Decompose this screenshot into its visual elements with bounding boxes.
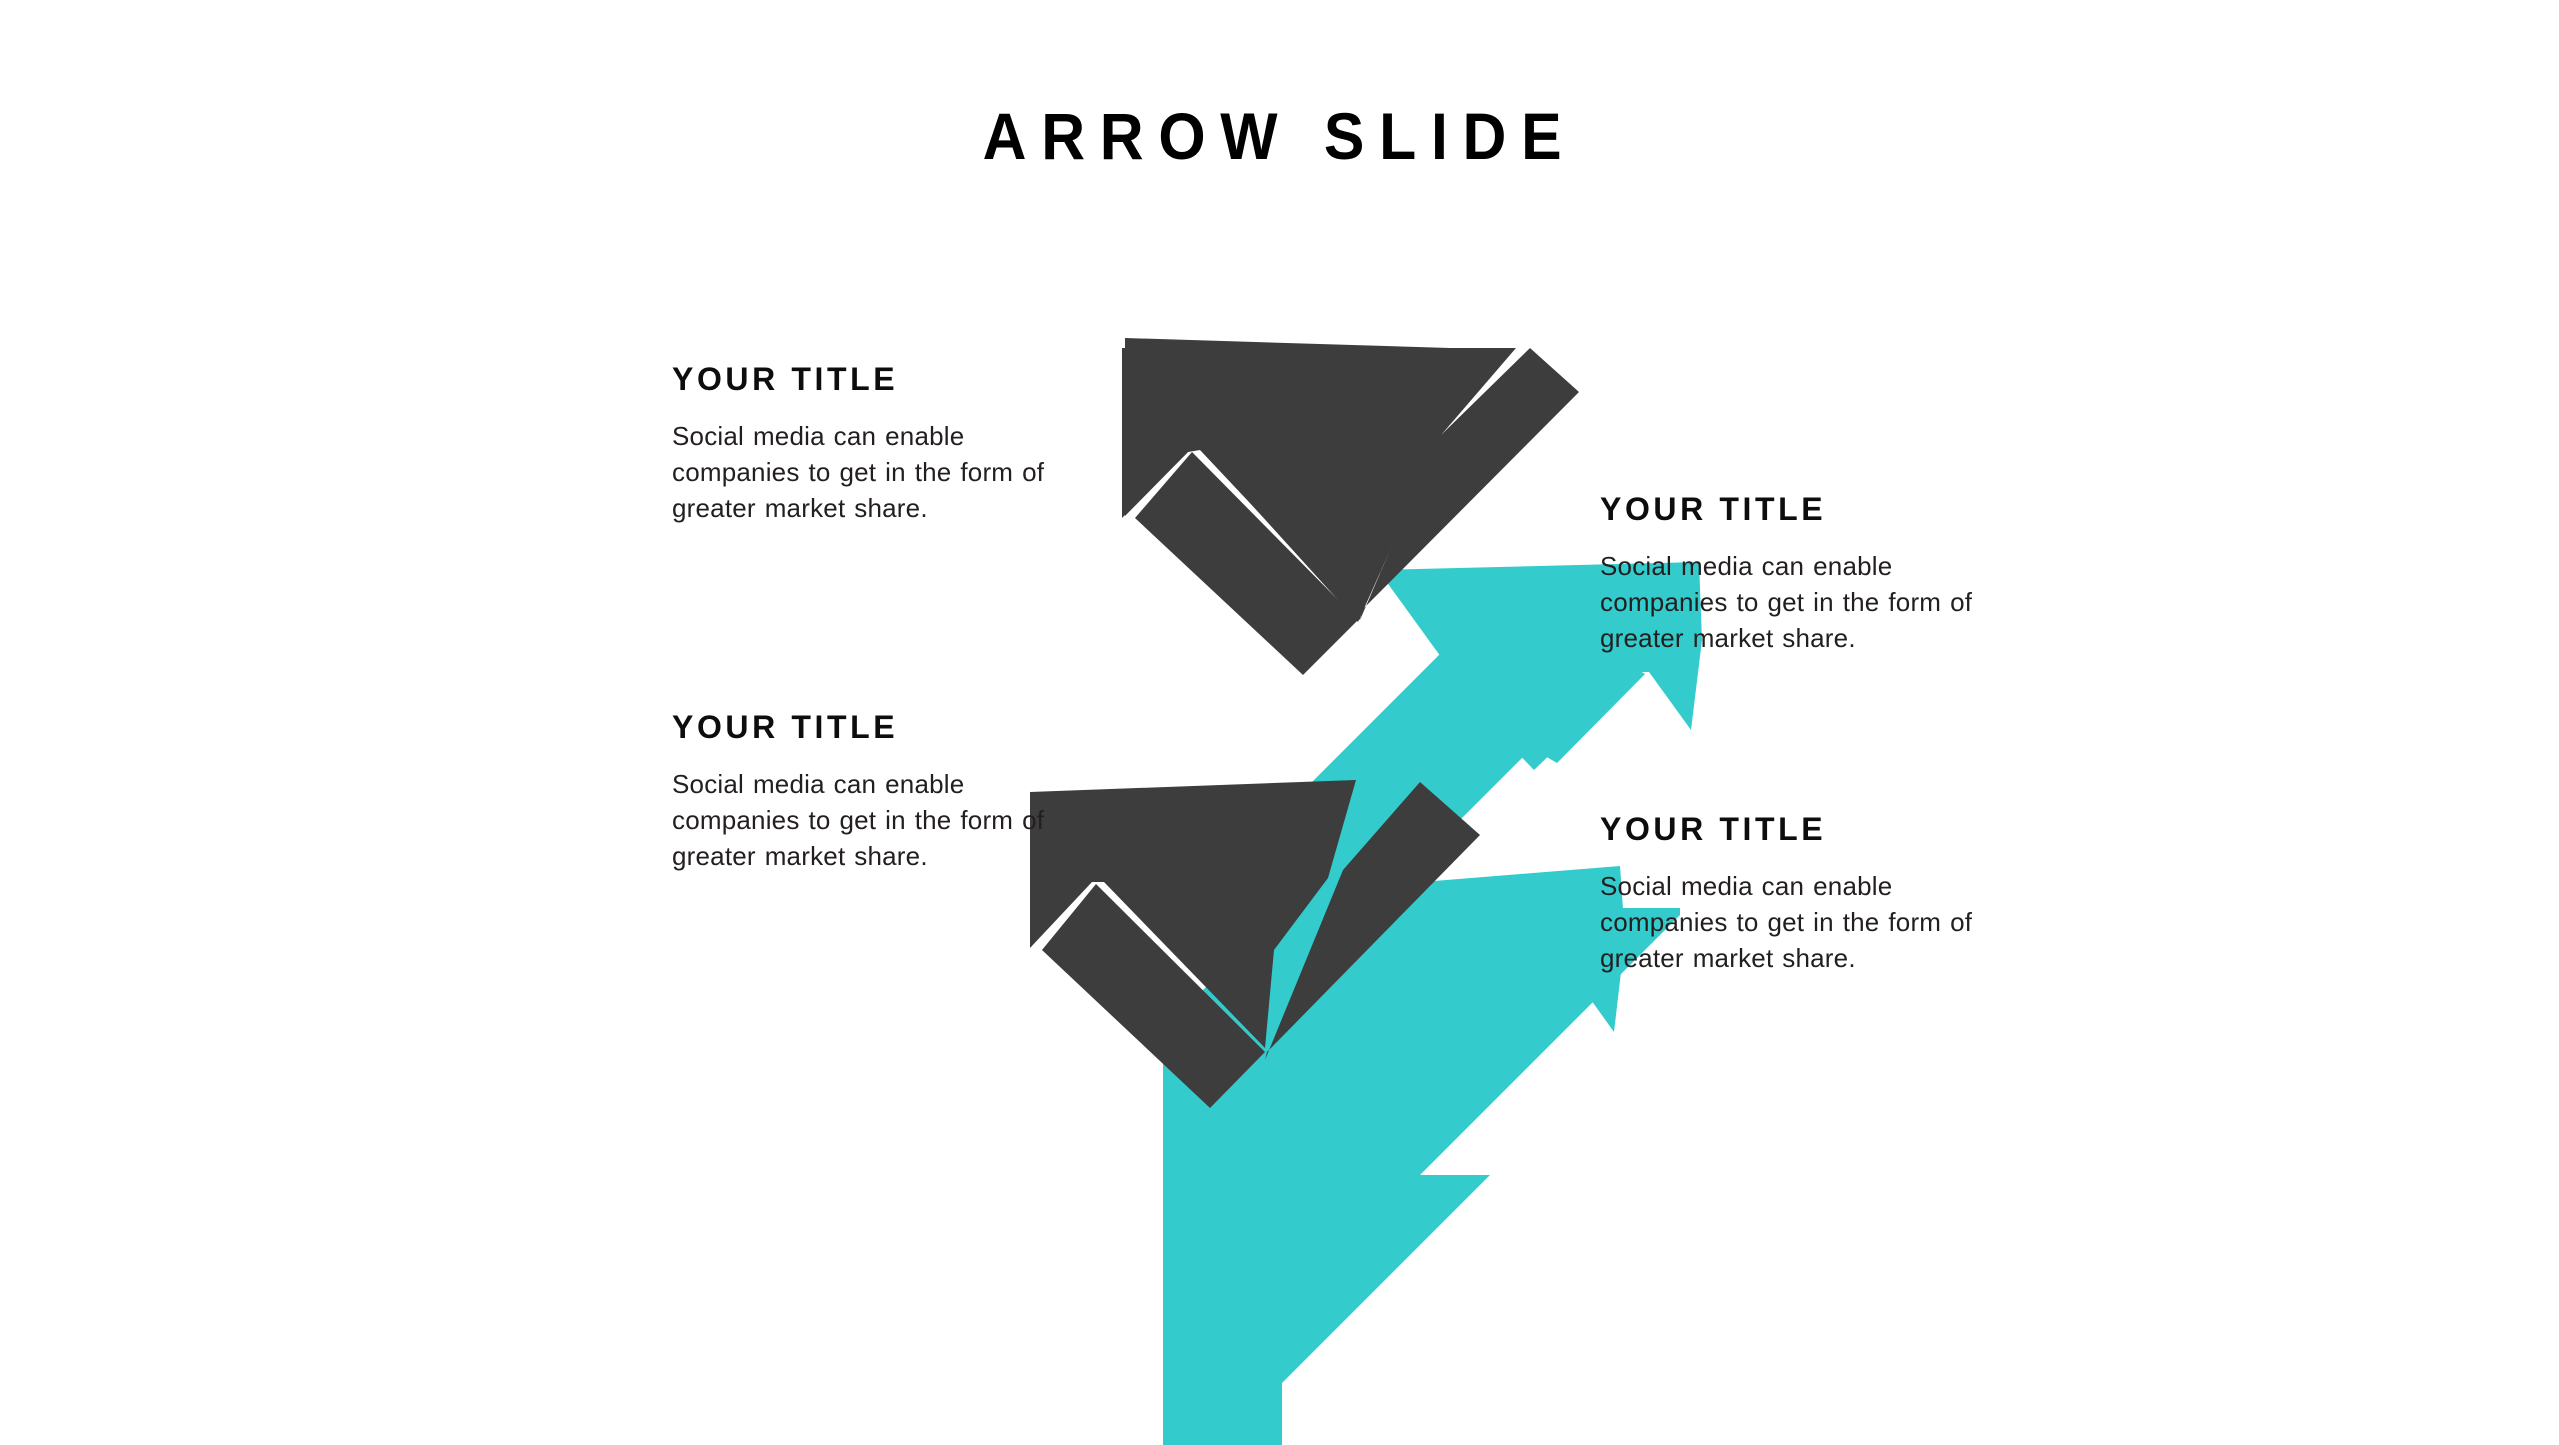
block-title: YOUR TITLE: [1600, 492, 1980, 527]
block-title: YOUR TITLE: [672, 710, 1052, 745]
content-block-top-left: YOUR TITLE Social media can enable compa…: [672, 362, 1052, 527]
block-body: Social media can enable companies to get…: [1600, 549, 1980, 657]
content-block-bottom-left: YOUR TITLE Social media can enable compa…: [672, 710, 1052, 875]
block-body: Social media can enable companies to get…: [672, 419, 1052, 527]
block-title: YOUR TITLE: [1600, 812, 1980, 847]
content-block-top-right: YOUR TITLE Social media can enable compa…: [1600, 492, 1980, 657]
page-title: ARROW SLIDE: [102, 102, 2456, 171]
block-body: Social media can enable companies to get…: [1600, 869, 1980, 977]
block-body: Social media can enable companies to get…: [672, 767, 1052, 875]
content-block-bottom-right: YOUR TITLE Social media can enable compa…: [1600, 812, 1980, 977]
slide-canvas: ARROW SLIDE: [0, 0, 2559, 1440]
block-title: YOUR TITLE: [672, 362, 1052, 397]
zigzag-arrow-diagram: [1060, 330, 1680, 1445]
